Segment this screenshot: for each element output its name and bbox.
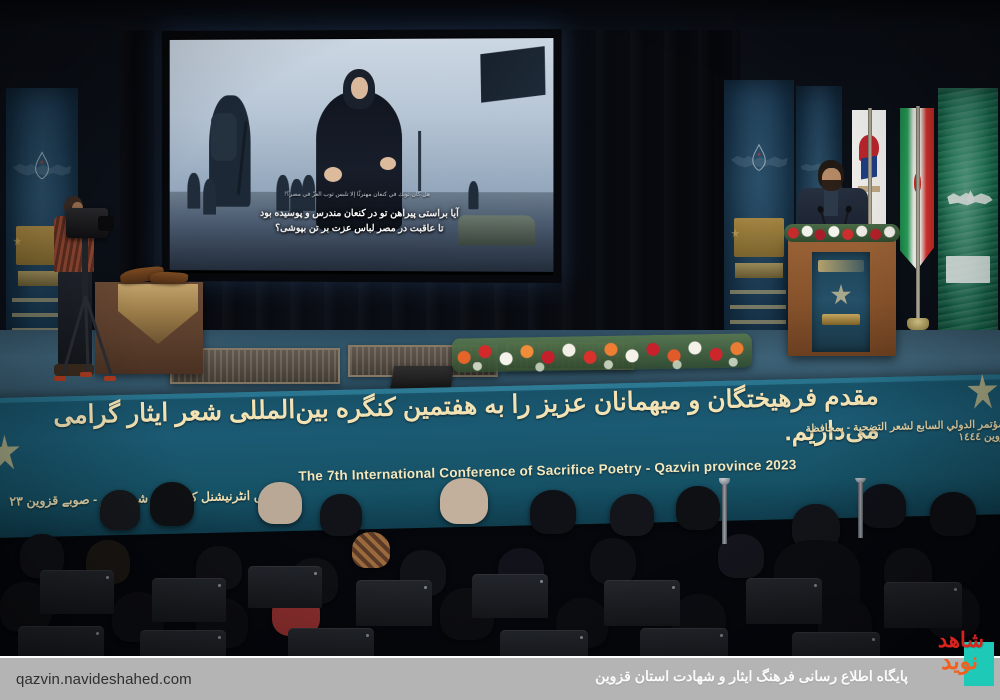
audience-head bbox=[930, 492, 976, 536]
footer-bar: qazvin.navideshahed.com پایگاه اطلاع رسا… bbox=[0, 656, 1000, 700]
tripod-column bbox=[82, 238, 88, 302]
tripod-foot bbox=[80, 372, 92, 377]
foundation-emblem-icon bbox=[12, 223, 23, 259]
audience-area bbox=[0, 478, 1000, 660]
audience-chair[interactable] bbox=[746, 578, 822, 624]
audience-head bbox=[676, 486, 720, 530]
audience-head bbox=[860, 484, 906, 528]
speaker-beard bbox=[822, 180, 841, 191]
audience-chair[interactable] bbox=[472, 574, 548, 618]
banner-emblem-right-icon bbox=[965, 374, 1000, 415]
conference-photo: هل كان ثوبك في كنعان مهترئًا إلا تلبس ثو… bbox=[0, 0, 1000, 700]
rope-stanchion bbox=[858, 480, 863, 538]
audience-chair[interactable] bbox=[356, 580, 432, 626]
tripod-foot bbox=[54, 376, 66, 381]
audience-chair[interactable] bbox=[248, 566, 322, 608]
green-banner-plate bbox=[946, 256, 989, 283]
gold-bar-1 bbox=[735, 263, 783, 278]
speaker-shirt bbox=[824, 190, 838, 216]
flag-base bbox=[907, 318, 929, 330]
stage-front-flower-arrangement bbox=[452, 333, 753, 372]
audience-head bbox=[530, 490, 576, 534]
audience-chair[interactable] bbox=[604, 580, 680, 626]
ceiling-shadow bbox=[0, 0, 1000, 30]
camera-lens-icon bbox=[98, 216, 114, 231]
footer-persian-tagline: پایگاه اطلاع رسانی فرهنگ ایثار و شهادت ا… bbox=[595, 668, 908, 685]
audience-head bbox=[320, 494, 362, 536]
projection-screen: هل كان ثوبك في كنعان مهترئًا إلا تلبس ثو… bbox=[162, 29, 562, 283]
banner-microtext-3 bbox=[730, 320, 786, 324]
audience-head bbox=[150, 482, 194, 526]
audience-head-grey-hair bbox=[440, 478, 488, 524]
foundation-emblem-icon bbox=[730, 215, 741, 251]
audience-chair[interactable] bbox=[152, 578, 226, 622]
banner-emblem-left-icon bbox=[0, 431, 22, 476]
audience-head bbox=[610, 494, 654, 536]
audience-head-grey-hair bbox=[258, 482, 302, 524]
tripod-foot bbox=[104, 376, 116, 381]
white-map-graphic bbox=[943, 154, 996, 244]
banner-microtext-2 bbox=[730, 305, 786, 309]
audience-chair[interactable] bbox=[18, 626, 104, 660]
podium-group bbox=[782, 160, 902, 360]
audience-chair[interactable] bbox=[884, 582, 962, 628]
string-instrument bbox=[150, 271, 189, 286]
podium-front-panel bbox=[812, 252, 870, 352]
navid-shahed-logo[interactable]: شاهد نوید bbox=[910, 642, 994, 700]
audience-head bbox=[590, 538, 636, 584]
audience-head-patterned-scarf bbox=[352, 532, 390, 568]
podium-calligraphy bbox=[818, 260, 864, 272]
audience-chair[interactable] bbox=[40, 570, 114, 614]
banner-arabic-title: المؤتمر الدولي السابع لشعر التضحية - بمح… bbox=[780, 418, 1000, 447]
audience-head bbox=[100, 490, 140, 530]
gold-calligraphy-plate bbox=[734, 218, 784, 257]
flag-pole bbox=[916, 106, 920, 320]
podium-flower-garland bbox=[784, 224, 900, 242]
footer-website-url[interactable]: qazvin.navideshahed.com bbox=[16, 671, 192, 688]
podium-gold-plate bbox=[822, 314, 859, 325]
tulip-calligraphy-icon bbox=[744, 95, 773, 221]
screen-frame bbox=[162, 29, 562, 283]
banner-microtext-1 bbox=[730, 290, 786, 294]
podium-star-emblem-icon bbox=[831, 284, 852, 306]
rope-stanchion bbox=[722, 482, 727, 544]
cameraman bbox=[46, 196, 116, 386]
logo-text-navid: نوید bbox=[941, 648, 978, 675]
